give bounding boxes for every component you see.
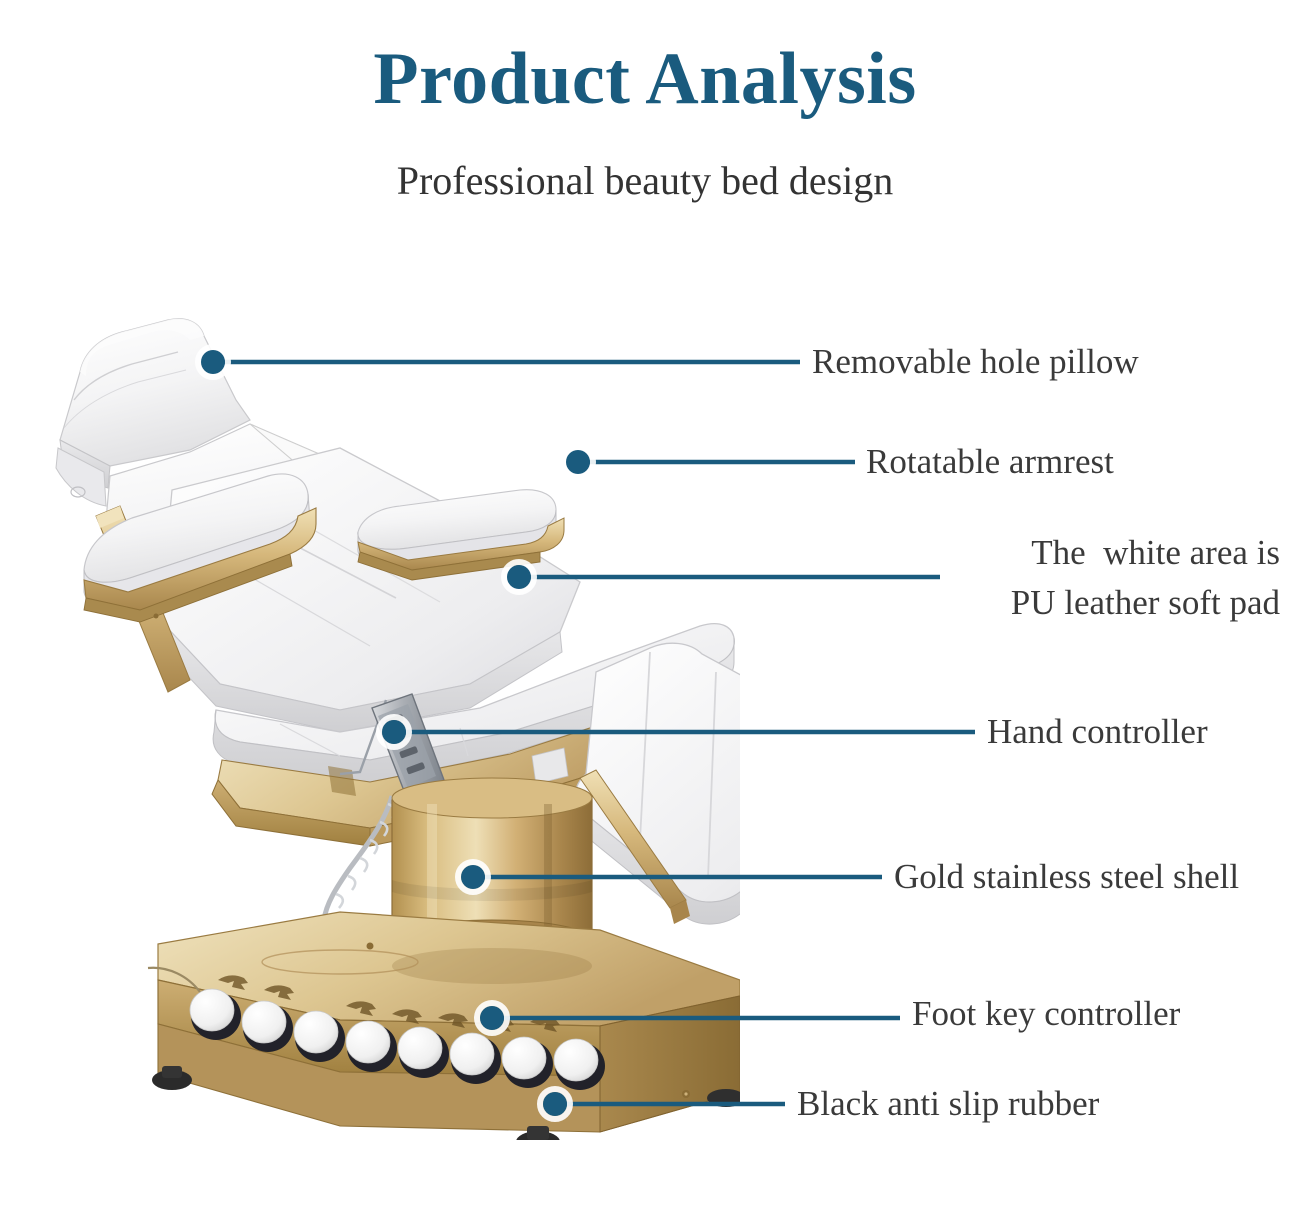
callout-label-line: PU leather soft pad: [1011, 578, 1280, 628]
callout-label-foot-key-controller: Foot key controller: [912, 990, 1180, 1037]
callout-label-line: Rotatable armrest: [866, 438, 1114, 485]
callout-label-pu-leather-soft-pad: The white area isPU leather soft pad: [1011, 528, 1280, 628]
callout-label-line: Black anti slip rubber: [797, 1080, 1099, 1127]
product-analysis-infographic: Product Analysis Professional beauty bed…: [0, 0, 1290, 1228]
foot-key-controller-base: [148, 912, 740, 1132]
page-title: Product Analysis: [0, 36, 1290, 122]
callout-label-gold-stainless-steel-shell: Gold stainless steel shell: [894, 853, 1239, 900]
callout-label-hand-controller: Hand controller: [987, 708, 1208, 755]
callout-label-line: Gold stainless steel shell: [894, 853, 1239, 900]
callout-label-line: Removable hole pillow: [812, 338, 1139, 385]
beauty-bed-illustration: [40, 280, 740, 1140]
callout-label-line: The white area is: [1011, 528, 1280, 578]
callout-label-line: Foot key controller: [912, 990, 1180, 1037]
page-subtitle: Professional beauty bed design: [0, 155, 1290, 207]
footrest-pad: [576, 643, 740, 924]
callout-label-line: Hand controller: [987, 708, 1208, 755]
callout-label-black-anti-slip-rubber: Black anti slip rubber: [797, 1080, 1099, 1127]
callout-label-rotatable-armrest: Rotatable armrest: [866, 438, 1114, 485]
callout-label-removable-hole-pillow: Removable hole pillow: [812, 338, 1139, 385]
